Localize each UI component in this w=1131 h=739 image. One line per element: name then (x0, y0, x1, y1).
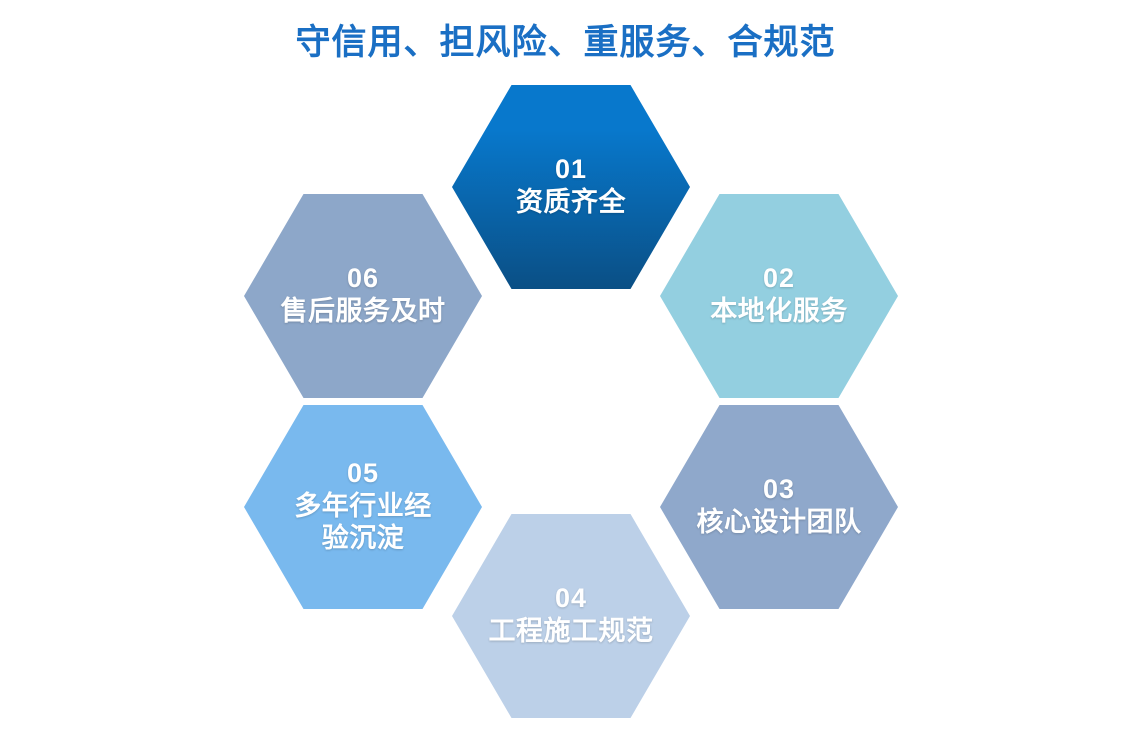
hexagon-item-02[interactable]: 02 本地化服务 (660, 194, 898, 398)
hexagon-number-05: 05 (347, 459, 379, 487)
slide-canvas: 守信用、担风险、重服务、合规范 01 资质齐全 02 本地化服务 03 核心设计… (0, 0, 1131, 739)
hexagon-item-05[interactable]: 05 多年行业经 验沉淀 (244, 405, 482, 609)
hexagon-number-02: 02 (763, 264, 795, 292)
hexagon-item-04[interactable]: 04 工程施工规范 (452, 514, 690, 718)
hexagon-item-06[interactable]: 06 售后服务及时 (244, 194, 482, 398)
hexagon-label-04: 工程施工规范 (489, 615, 654, 648)
hexagon-label-06: 售后服务及时 (281, 295, 446, 328)
hexagon-honeycomb-diagram: 01 资质齐全 02 本地化服务 03 核心设计团队 04 工程施工规范 05 … (0, 0, 1131, 739)
hexagon-number-01: 01 (555, 155, 587, 183)
hexagon-item-01[interactable]: 01 资质齐全 (452, 85, 690, 289)
hexagon-number-06: 06 (347, 264, 379, 292)
hexagon-label-01: 资质齐全 (516, 186, 626, 219)
hexagon-item-03[interactable]: 03 核心设计团队 (660, 405, 898, 609)
hexagon-label-03: 核心设计团队 (697, 506, 862, 539)
hexagon-number-03: 03 (763, 475, 795, 503)
hexagon-number-04: 04 (555, 584, 587, 612)
hexagon-label-05: 多年行业经 验沉淀 (294, 490, 432, 555)
hexagon-label-02: 本地化服务 (710, 295, 848, 328)
